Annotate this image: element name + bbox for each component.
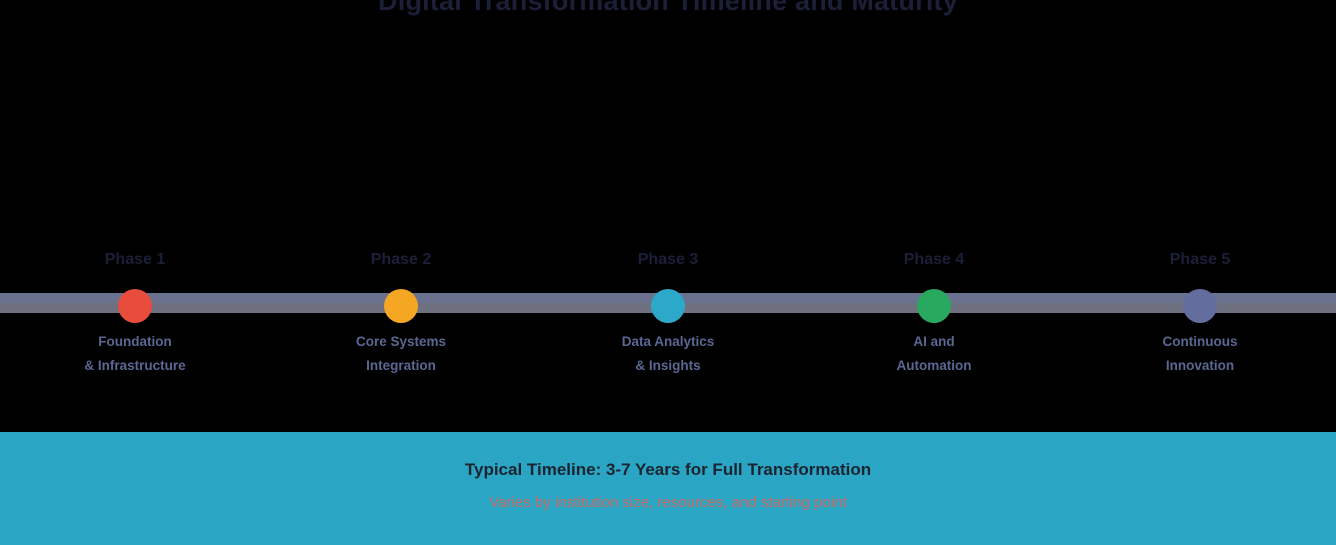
phase-marker-5[interactable]: Phase 5 Continuous Innovation <box>1100 250 1300 378</box>
phase-description-line-2: Innovation <box>1100 354 1300 378</box>
phase-number-label: Phase 2 <box>301 250 501 270</box>
footer-subtext: Varies by institution size, resources, a… <box>0 494 1336 511</box>
phase-dot-slot <box>1100 270 1300 336</box>
phase-description-line-2: Automation <box>834 354 1034 378</box>
phase-dot-icon[interactable] <box>1183 289 1217 323</box>
footer-banner: Typical Timeline: 3-7 Years for Full Tra… <box>0 432 1336 545</box>
phase-description-line-2: & Infrastructure <box>35 354 235 378</box>
phase-dot-icon[interactable] <box>384 289 418 323</box>
page-title: Digital Transformation Timeline and Matu… <box>0 0 1336 17</box>
timeline-diagram: Digital Transformation Timeline and Matu… <box>0 0 1336 545</box>
phase-marker-2[interactable]: Phase 2 Core Systems Integration <box>301 250 501 378</box>
phase-dot-icon[interactable] <box>118 289 152 323</box>
phase-dot-slot <box>568 270 768 336</box>
phase-number-label: Phase 4 <box>834 250 1034 270</box>
phase-description: Data Analytics & Insights <box>568 330 768 378</box>
phase-number-label: Phase 5 <box>1100 250 1300 270</box>
phase-marker-3[interactable]: Phase 3 Data Analytics & Insights <box>568 250 768 378</box>
phase-dot-icon[interactable] <box>651 289 685 323</box>
phase-dot-slot <box>301 270 501 336</box>
phase-description: Foundation & Infrastructure <box>35 330 235 378</box>
phase-description-line-2: Integration <box>301 354 501 378</box>
phase-marker-1[interactable]: Phase 1 Foundation & Infrastructure <box>35 250 235 378</box>
phase-dot-slot <box>35 270 235 336</box>
phase-dot-icon[interactable] <box>917 289 951 323</box>
phase-description-line-2: & Insights <box>568 354 768 378</box>
phase-number-label: Phase 1 <box>35 250 235 270</box>
phase-description: Continuous Innovation <box>1100 330 1300 378</box>
phase-dot-slot <box>834 270 1034 336</box>
phase-marker-4[interactable]: Phase 4 AI and Automation <box>834 250 1034 378</box>
phase-description: AI and Automation <box>834 330 1034 378</box>
phase-description: Core Systems Integration <box>301 330 501 378</box>
footer-headline: Typical Timeline: 3-7 Years for Full Tra… <box>0 460 1336 480</box>
phase-number-label: Phase 3 <box>568 250 768 270</box>
